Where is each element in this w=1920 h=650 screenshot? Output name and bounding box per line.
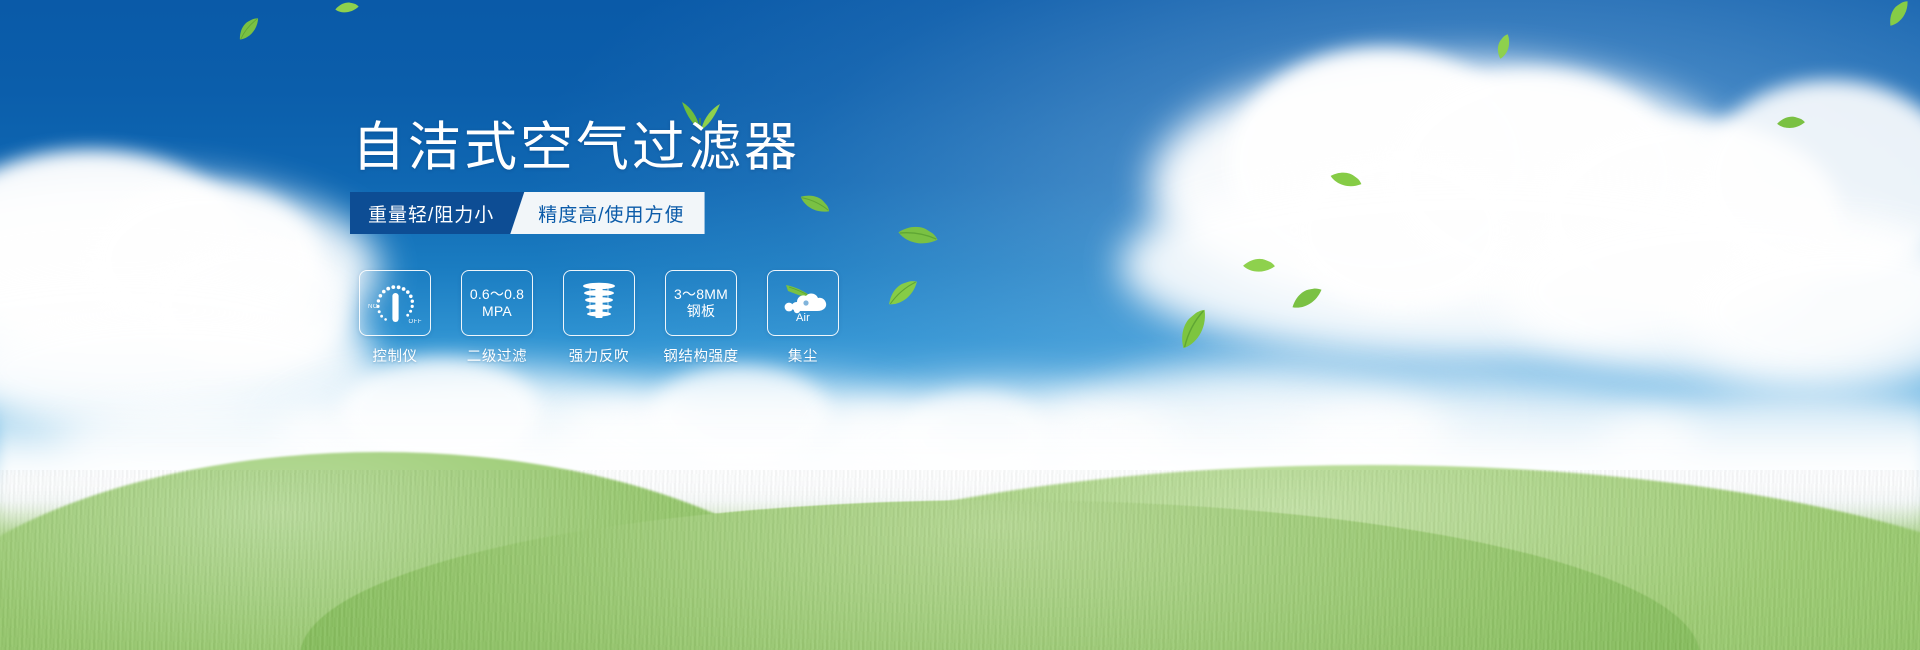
air-label: Air: [796, 312, 810, 325]
dust-collection-cloud-icon: [776, 281, 830, 315]
feature-caption: 控制仪: [372, 345, 417, 366]
control-gauge-icon: NO OFF: [367, 278, 423, 328]
feature-icon-box: NO OFF: [359, 270, 431, 336]
tag-pill-label: 重量轻/阻力小: [368, 200, 494, 227]
feature-icon-row: NO OFF 控制仪 0.6～0.8 MPA 二级过滤: [356, 270, 842, 366]
gauge-label-off: OFF: [409, 319, 423, 325]
steel-thickness: 3～8MM: [674, 286, 728, 303]
tag-pill-lightweight[interactable]: 重量轻/阻力小: [350, 192, 524, 234]
feature-caption: 集尘: [788, 345, 818, 366]
page-title: 自洁式空气过滤器: [352, 118, 800, 177]
tag-pill-group: 重量轻/阻力小 精度高/使用方便: [350, 192, 705, 234]
feature-icon-box: Air: [767, 270, 839, 336]
hero-banner: 自洁式空气过滤器 重量轻/阻力小 精度高/使用方便: [0, 0, 1920, 650]
feature-item-steel-strength[interactable]: 3～8MM 钢板 钢结构强度: [662, 270, 740, 366]
feature-item-backblow[interactable]: 强力反吹: [560, 270, 638, 366]
grass-texture: [0, 470, 1920, 650]
tag-pill-precision[interactable]: 精度高/使用方便: [510, 192, 704, 234]
feature-caption: 强力反吹: [569, 345, 629, 366]
feature-icon-box: [563, 270, 635, 336]
gauge-label-no: NO: [368, 304, 378, 310]
feature-item-controller[interactable]: NO OFF 控制仪: [356, 270, 434, 366]
feature-caption: 钢结构强度: [663, 345, 739, 366]
feature-icon-box: 0.6～0.8 MPA: [461, 270, 533, 336]
feature-item-dust-collection[interactable]: Air 集尘: [764, 270, 842, 366]
pressure-unit: MPA: [482, 303, 512, 320]
feature-caption: 二级过滤: [467, 345, 527, 366]
filter-cartridge-icon: [576, 278, 622, 329]
tag-pill-label: 精度高/使用方便: [538, 200, 684, 227]
feature-icon-box: 3～8MM 钢板: [665, 270, 737, 336]
feature-item-secondary-filtration[interactable]: 0.6～0.8 MPA 二级过滤: [458, 270, 536, 366]
steel-material: 钢板: [687, 303, 715, 320]
pressure-value: 0.6～0.8: [470, 286, 524, 303]
